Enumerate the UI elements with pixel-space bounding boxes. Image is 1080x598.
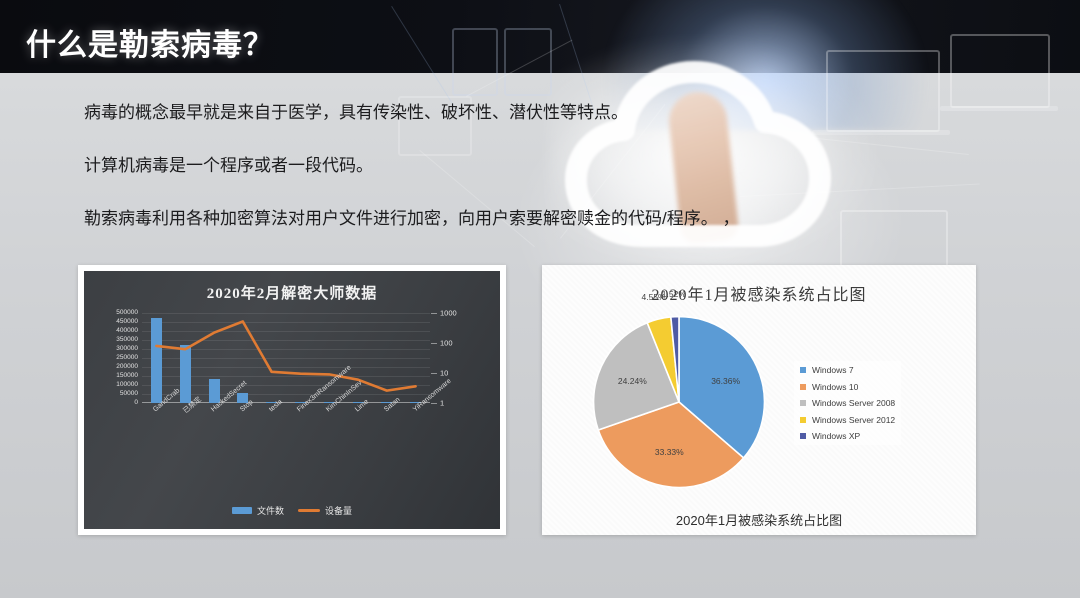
legend-label: Windows 7 (812, 365, 854, 375)
paragraph-3: 勒索病毒利用各种加密算法对用户文件进行加密，向用户索要解密赎金的代码/程序。 ， (84, 210, 944, 227)
legend-label: Windows Server 2008 (812, 398, 895, 408)
y-axis-tick-label: 350000 (116, 337, 138, 344)
legend-label-devices: 设备量 (325, 504, 352, 517)
y-axis-tick-label: 100000 (116, 382, 138, 389)
y2-axis-tick-label: 10 (440, 369, 448, 377)
legend-item: Windows 10 (800, 382, 895, 392)
y2-axis-tick-label: 1000 (440, 309, 457, 317)
y2-axis-tick-label: 1 (440, 399, 444, 407)
y-axis-tick-label: 450000 (116, 319, 138, 326)
bar-chart-panel: 2020年2月解密大师数据 05000010000015000020000025… (78, 265, 506, 535)
y-axis-tick-label: 500000 (116, 310, 138, 317)
pie-chart-plot-area: 36.36%33.33%24.24%4.55%1.52% (590, 313, 768, 491)
y-axis-tick-label: 300000 (116, 346, 138, 353)
y2-axis-tick-mark (431, 343, 437, 344)
pie-value-label: 33.33% (655, 447, 684, 457)
body-text-block: 病毒的概念最早就是来自于医学，具有传染性、破坏性、潜伏性等特点。 计算机病毒是一… (84, 104, 944, 227)
pie-chart-legend: Windows 7Windows 10Windows Server 2008Wi… (794, 361, 901, 445)
pie-value-label: 1.52% (662, 289, 686, 299)
line-series-overlay (142, 313, 430, 403)
legend-item: Windows 7 (800, 365, 895, 375)
y-axis-tick-label: 200000 (116, 364, 138, 371)
legend-item: Windows Server 2012 (800, 415, 895, 425)
pie-value-label: 36.36% (711, 376, 740, 386)
bar-chart: 2020年2月解密大师数据 05000010000015000020000025… (84, 271, 500, 529)
y-axis-tick-label: 50000 (120, 391, 138, 398)
wireframe-device-1 (452, 28, 498, 96)
y2-axis-tick-mark (431, 313, 437, 314)
legend-swatch-icon (800, 400, 806, 406)
legend-swatch-line-icon (298, 509, 320, 512)
y-axis-tick-label: 400000 (116, 328, 138, 335)
paragraph-1: 病毒的概念最早就是来自于医学，具有传染性、破坏性、潜伏性等特点。 (84, 104, 944, 121)
paragraph-2: 计算机病毒是一个程序或者一段代码。 (84, 157, 944, 174)
legend-swatch-icon (800, 417, 806, 423)
legend-item-devices: 设备量 (298, 504, 352, 517)
pie-graphic (590, 313, 768, 491)
legend-swatch-icon (800, 384, 806, 390)
page-title: 什么是勒索病毒？ (26, 20, 274, 64)
legend-label: Windows Server 2012 (812, 415, 895, 425)
legend-label-files: 文件数 (257, 504, 284, 517)
y-axis-tick-label: 250000 (116, 355, 138, 362)
legend-item: Windows XP (800, 431, 895, 441)
pie-chart-title: 2020年1月被感染系统占比图 (542, 281, 976, 305)
y-axis-tick-label: 150000 (116, 373, 138, 380)
bar-chart-plot-area: 0500001000001500002000002500003000003500… (142, 313, 430, 403)
pie-chart-caption: 2020年1月被感染系统占比图 (542, 510, 976, 529)
pie-value-label: 24.24% (618, 376, 647, 386)
slide-root: 什么是勒索病毒？ 病毒的概念最早就是来自于医学，具有传染性、破坏性、潜伏性等特点… (0, 0, 1080, 598)
y2-axis-tick-mark (431, 403, 437, 404)
wireframe-laptop-2 (950, 34, 1050, 108)
bar-chart-title: 2020年2月解密大师数据 (84, 282, 500, 303)
legend-label: Windows XP (812, 431, 860, 441)
legend-label: Windows 10 (812, 382, 858, 392)
bar-chart-legend: 文件数 设备量 (84, 504, 500, 517)
legend-swatch-icon (800, 367, 806, 373)
legend-item-files: 文件数 (232, 504, 284, 517)
y2-axis-tick-label: 100 (440, 339, 453, 347)
wireframe-laptop-2-base (940, 106, 1058, 111)
y-axis-tick-label: 0 (134, 400, 138, 407)
pie-chart-panel: 2020年1月被感染系统占比图 36.36%33.33%24.24%4.55%1… (542, 265, 976, 535)
pie-chart: 2020年1月被感染系统占比图 36.36%33.33%24.24%4.55%1… (542, 265, 976, 535)
legend-swatch-icon (800, 433, 806, 439)
legend-item: Windows Server 2008 (800, 398, 895, 408)
y2-axis-tick-mark (431, 373, 437, 374)
legend-swatch-bar-icon (232, 507, 252, 514)
